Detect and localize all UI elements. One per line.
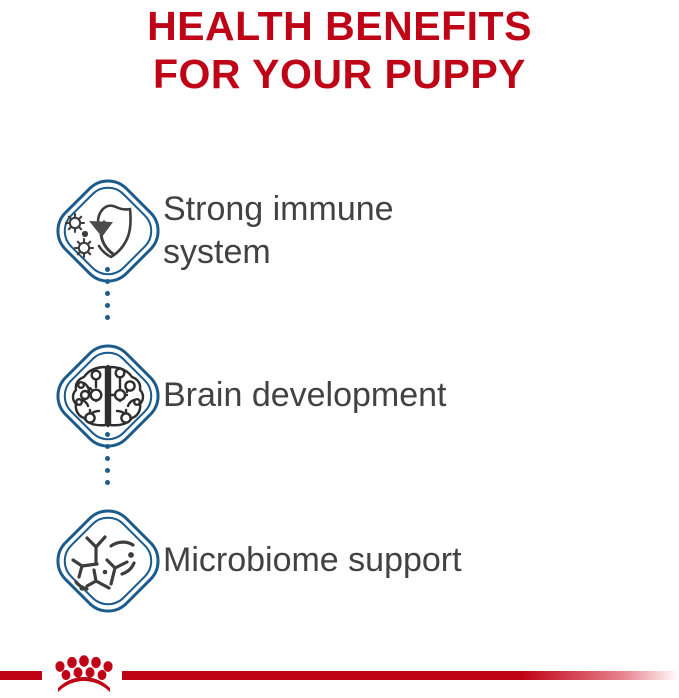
benefits-list: Strong immune system <box>0 148 679 643</box>
page-title-line-1: HEALTH BENEFITS <box>0 2 679 50</box>
benefit-label-immune: Strong immune system <box>163 188 463 274</box>
brain-neural-icon <box>49 337 167 455</box>
bacteria-microbiome-icon <box>49 502 167 620</box>
royal-canin-crown-logo <box>48 655 120 693</box>
benefit-label-brain: Brain development <box>163 374 675 417</box>
benefit-icon-container-microbiome <box>0 478 155 643</box>
page-title-line-2: FOR YOUR PUPPY <box>0 50 679 98</box>
benefit-row-microbiome: Microbiome support <box>0 478 679 643</box>
benefit-label-container-immune: Strong immune system <box>155 188 679 274</box>
benefit-label-microbiome: Microbiome support <box>163 539 675 582</box>
benefit-icon-container-immune <box>0 148 155 313</box>
benefit-row-immune: Strong immune system <box>0 148 679 313</box>
benefit-label-container-microbiome: Microbiome support <box>155 539 679 582</box>
footer-bar-right-segment <box>122 671 679 680</box>
page-title: HEALTH BENEFITS FOR YOUR PUPPY <box>0 0 679 98</box>
benefit-icon-container-brain <box>0 313 155 478</box>
benefit-row-brain: Brain development <box>0 313 679 478</box>
shield-germs-icon <box>49 172 167 290</box>
footer-bar-left-segment <box>0 671 42 680</box>
benefit-label-container-brain: Brain development <box>155 374 679 417</box>
